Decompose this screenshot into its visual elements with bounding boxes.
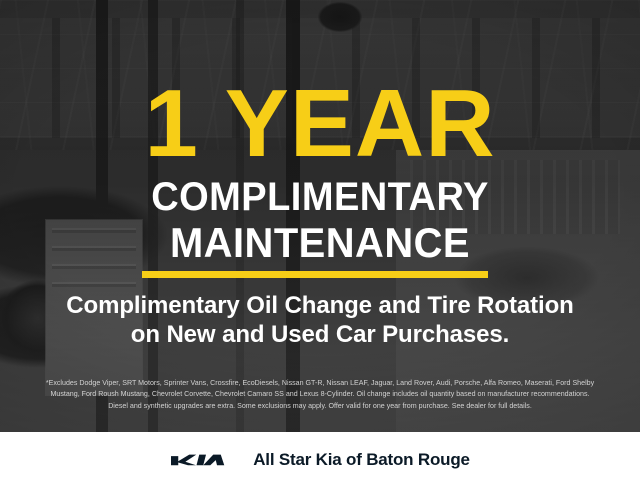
headline-maintenance: MAINTENANCE [16, 221, 624, 265]
kia-logo-icon [170, 450, 236, 470]
subheadline-line-1: Complimentary Oil Change and Tire Rotati… [66, 292, 573, 319]
disclaimer-line-2: Mustang, Ford Roush Mustang, Chevrolet C… [12, 389, 628, 400]
headline-complimentary: COMPLIMENTARY [16, 176, 624, 218]
disclaimer-line-3: Diesel and synthetic upgrades are extra.… [12, 401, 628, 412]
disclaimer-line-1: *Excludes Dodge Viper, SRT Motors, Sprin… [12, 378, 628, 389]
yellow-divider-rule [142, 271, 488, 278]
disclaimer-fine-print: *Excludes Dodge Viper, SRT Motors, Sprin… [12, 378, 628, 412]
subheadline-line-2: on New and Used Car Purchases. [0, 320, 640, 349]
headline-primary: 1 YEAR [0, 76, 640, 172]
dealer-name: All Star Kia of Baton Rouge [253, 450, 470, 470]
banner-content: 1 YEAR COMPLIMENTARY MAINTENANCE Complim… [0, 0, 640, 432]
promotional-banner: 1 YEAR COMPLIMENTARY MAINTENANCE Complim… [0, 0, 640, 488]
dealer-footer-bar: All Star Kia of Baton Rouge [0, 432, 640, 488]
subheadline: Complimentary Oil Change and Tire Rotati… [0, 291, 640, 349]
